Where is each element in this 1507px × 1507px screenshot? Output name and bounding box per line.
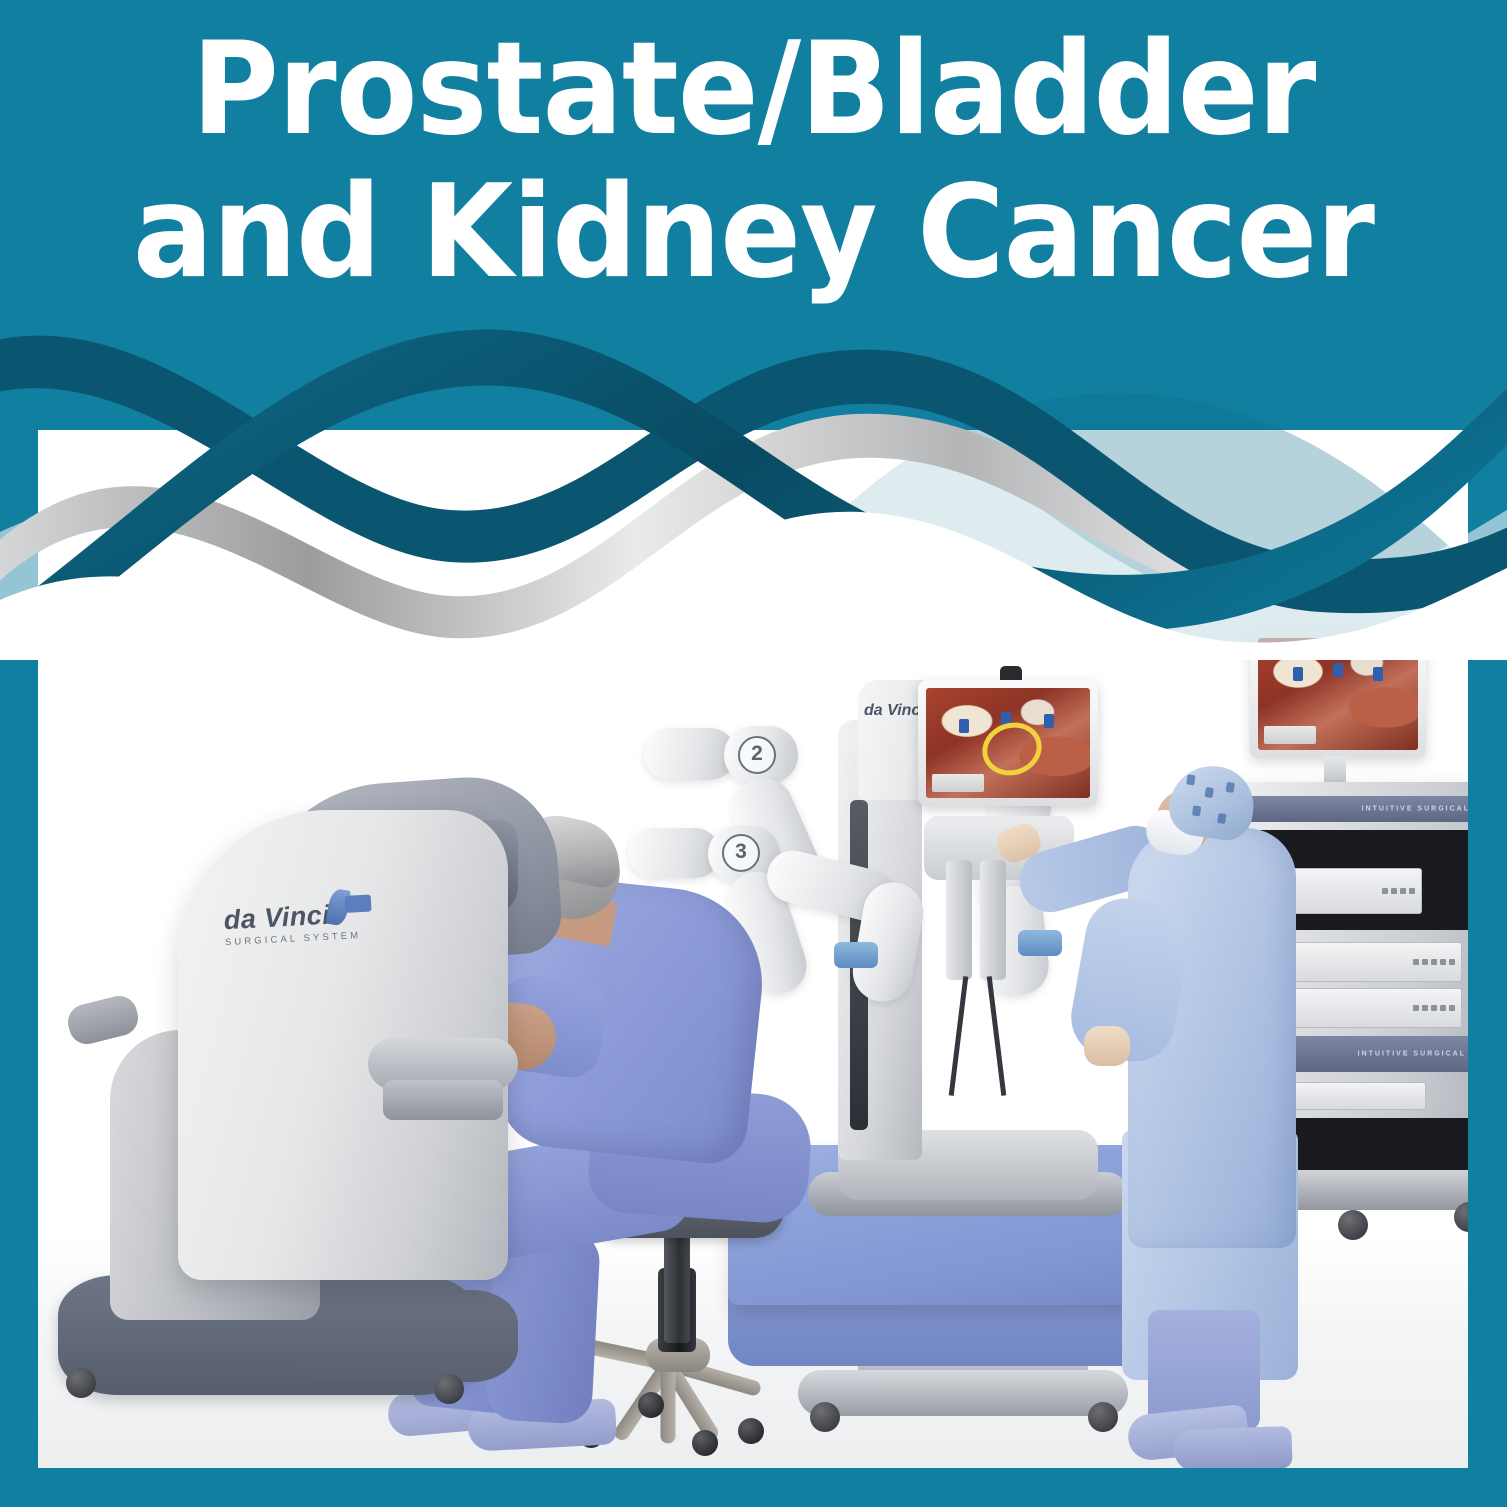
instrument-clip-1 (1018, 930, 1062, 956)
endoscope-rod-a (949, 976, 969, 1096)
console-master-controls[interactable] (383, 1080, 503, 1120)
stool-caster (738, 1418, 764, 1444)
or-table-base (798, 1370, 1128, 1416)
hd-badge (345, 895, 372, 913)
patient-cart-touchscreen[interactable] (918, 680, 1098, 806)
stool-caster (638, 1392, 664, 1418)
robotic-arm-2-upper (644, 728, 736, 780)
vision-cart-header-panel: INTUITIVE SURGICAL (1218, 796, 1468, 822)
console-caster (434, 1374, 464, 1404)
console-base-arm (288, 1290, 518, 1382)
wave-decoration (0, 300, 1507, 660)
nurse-hand (1084, 1026, 1130, 1066)
instrument-shaft-a (946, 860, 972, 980)
stool-caster (692, 1430, 718, 1456)
nurse-shoe-cover (1173, 1426, 1292, 1468)
core-unit-logo: INTUITIVE SURGICAL (1358, 1051, 1466, 1058)
vision-cart-caster (1338, 1210, 1368, 1240)
telestration-circle (975, 715, 1048, 783)
title-line-1: Prostate/Bladder (53, 18, 1455, 161)
instrument-shaft-b (980, 860, 1006, 980)
wave-svg (0, 300, 1507, 660)
robotic-arm-3-upper (628, 828, 720, 878)
or-table-caster (810, 1402, 840, 1432)
page-title: Prostate/Bladder and Kidney Cancer (0, 18, 1507, 305)
arm-label-2: 2 (738, 736, 776, 774)
instrument-clip-3 (834, 942, 878, 968)
title-line-2: and Kidney Cancer (53, 161, 1455, 304)
arm-label-3: 3 (722, 834, 760, 872)
console-caster (66, 1368, 96, 1398)
intuitive-surgical-logo: INTUITIVE SURGICAL (1362, 806, 1468, 813)
stool-post (664, 1225, 690, 1343)
or-table-caster (1088, 1402, 1118, 1432)
touchscreen-video[interactable] (926, 688, 1090, 798)
poster: Prostate/Bladder and Kidney Cancer (0, 0, 1507, 1507)
console-handle (64, 992, 142, 1048)
